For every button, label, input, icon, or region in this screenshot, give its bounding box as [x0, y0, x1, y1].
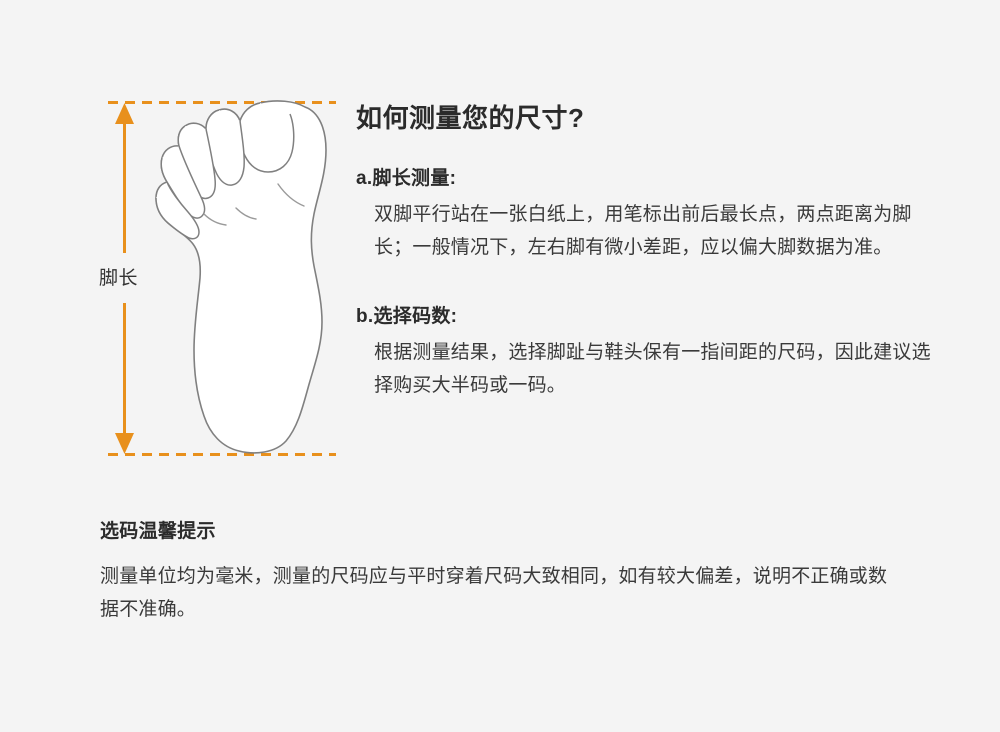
sizing-tip-body: 测量单位均为毫米，测量的尺码应与平时穿着尺码大致相同，如有较大偏差，说明不正确或… — [100, 560, 900, 626]
page-title: 如何测量您的尺寸? — [356, 100, 936, 136]
measurement-arrow-up — [115, 103, 134, 253]
sizing-tip-block: 选码温馨提示 测量单位均为毫米，测量的尺码应与平时穿着尺码大致相同，如有较大偏差… — [100, 518, 900, 626]
size-guide-page: 脚长 如何测量您的尺寸? a.脚长测量: 双脚平行站在一张白纸上，用笔标出前后最… — [0, 0, 1000, 732]
measurement-arrow-down — [115, 303, 134, 454]
foot-length-measurement-diagram: 脚长 — [100, 98, 340, 460]
section-choose-size-body: 根据测量结果，选择脚趾与鞋头保有一指间距的尺码，因此建议选择购买大半码或一码。 — [374, 336, 936, 402]
section-foot-length-body: 双脚平行站在一张白纸上，用笔标出前后最长点，两点距离为脚长；一般情况下，左右脚有… — [374, 198, 936, 264]
sizing-tip-title: 选码温馨提示 — [100, 518, 900, 546]
foot-length-label: 脚长 — [99, 267, 138, 291]
instructions-column: 如何测量您的尺寸? a.脚长测量: 双脚平行站在一张白纸上，用笔标出前后最长点，… — [356, 100, 936, 422]
foot-sole-outline — [156, 101, 326, 453]
section-choose-size: b.选择码数: 根据测量结果，选择脚趾与鞋头保有一指间距的尺码，因此建议选择购买… — [356, 302, 936, 402]
section-foot-length-heading: a.脚长测量: — [356, 164, 936, 194]
section-foot-length: a.脚长测量: 双脚平行站在一张白纸上，用笔标出前后最长点，两点距离为脚长；一般… — [356, 164, 936, 264]
section-choose-size-heading: b.选择码数: — [356, 302, 936, 332]
